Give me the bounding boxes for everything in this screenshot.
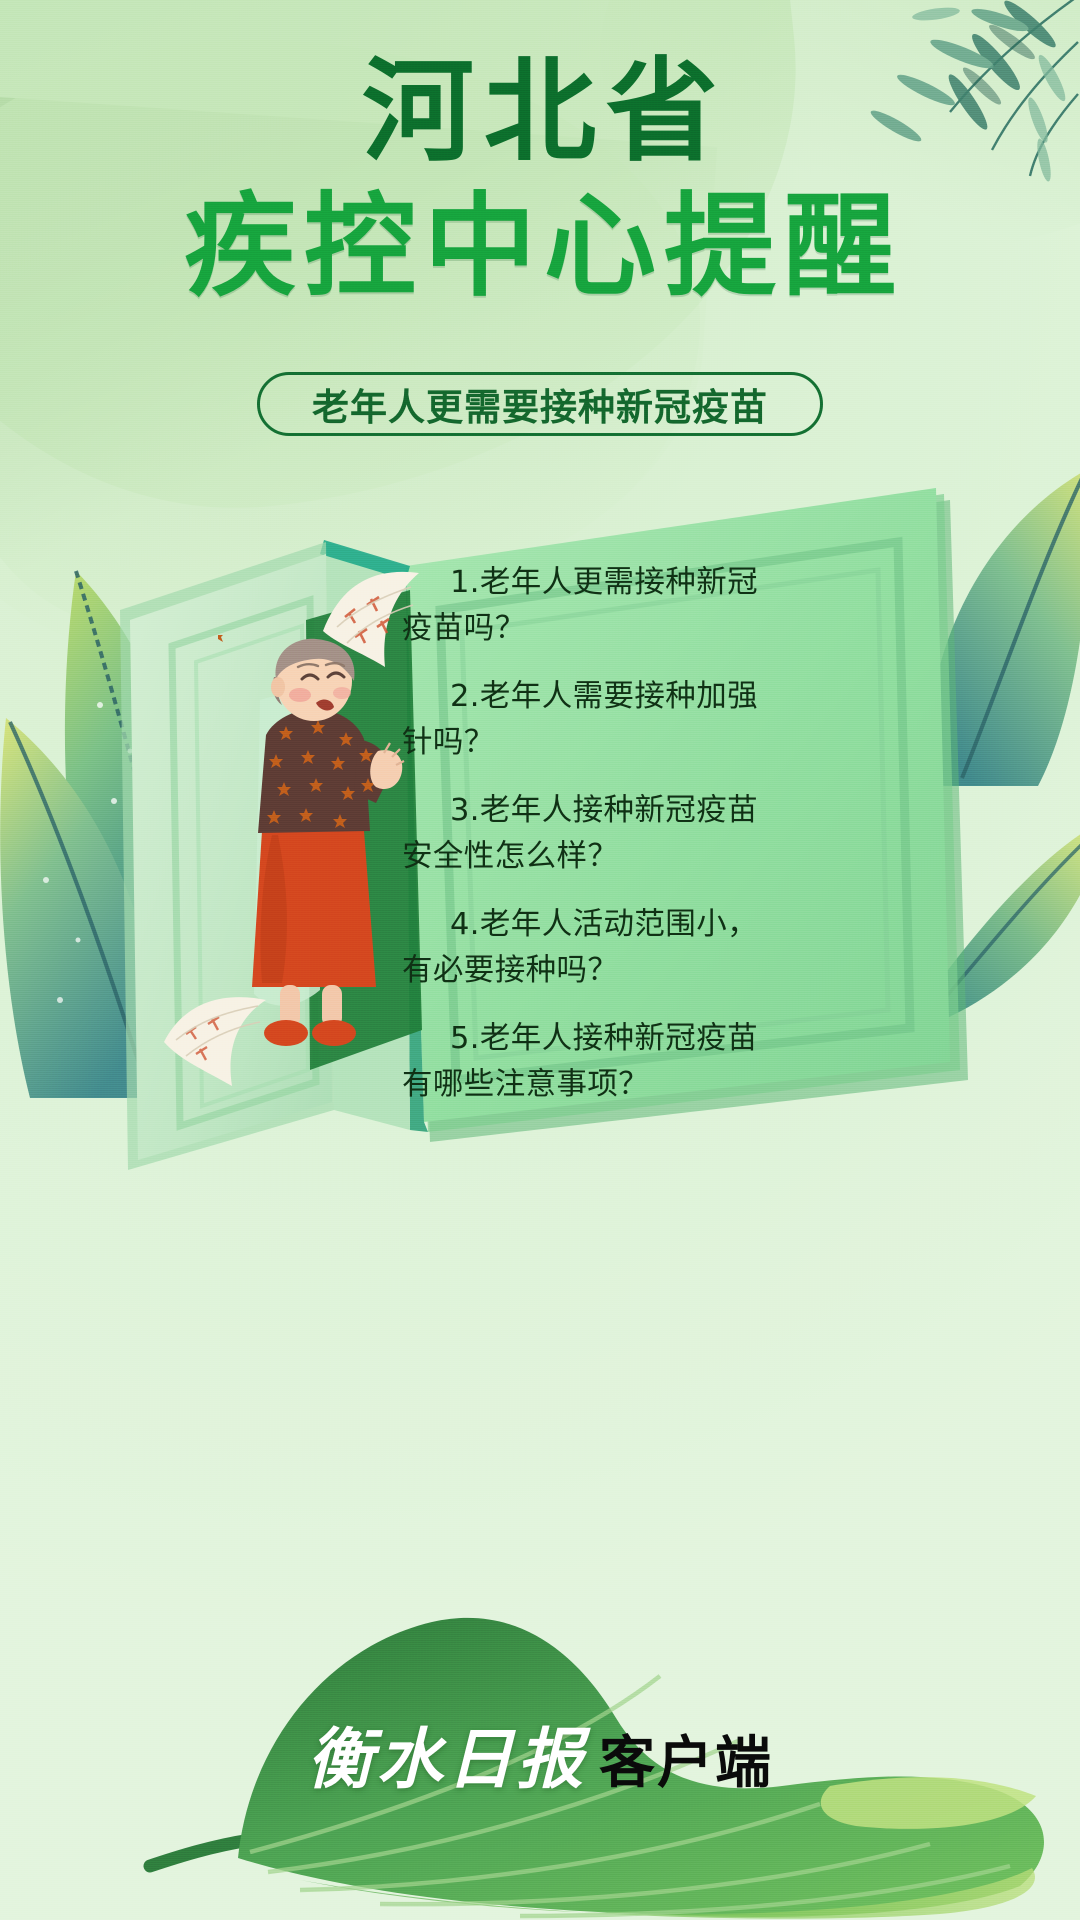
brand-name: 衡水日报 bbox=[307, 1706, 587, 1802]
footer: 衡水日报 客户端 bbox=[0, 1590, 1080, 1920]
subtitle-badge: 老年人更需要接种新冠疫苗 bbox=[257, 372, 823, 436]
list-item: 1.老年人更需接种新冠疫苗吗？ bbox=[402, 560, 782, 652]
list-item: 3.老年人接种新冠疫苗安全性怎么样？ bbox=[402, 788, 782, 880]
subtitle-text: 老年人更需要接种新冠疫苗 bbox=[312, 377, 768, 431]
list-item: 4.老年人活动范围小，有必要接种吗？ bbox=[402, 902, 782, 994]
list-item: 5.老年人接种新冠疫苗有哪些注意事项？ bbox=[402, 1016, 782, 1108]
page-title-line1: 河北省 bbox=[0, 52, 1080, 173]
page-title-line2: 疾控中心提醒 bbox=[0, 187, 1080, 308]
heading-block: 河北省 疾控中心提醒 bbox=[0, 52, 1080, 308]
question-list: 1.老年人更需接种新冠疫苗吗？ 2.老年人需要接种加强针吗？ 3.老年人接种新冠… bbox=[402, 560, 782, 1130]
list-item: 2.老年人需要接种加强针吗？ bbox=[402, 674, 782, 766]
elderly-woman-figure bbox=[218, 635, 408, 1055]
poster-root: 河北省 疾控中心提醒 老年人更需要接种新冠疫苗 bbox=[0, 0, 1080, 1920]
brand-lockup: 衡水日报 客户端 bbox=[307, 1706, 773, 1802]
brand-suffix: 客户端 bbox=[599, 1718, 773, 1799]
